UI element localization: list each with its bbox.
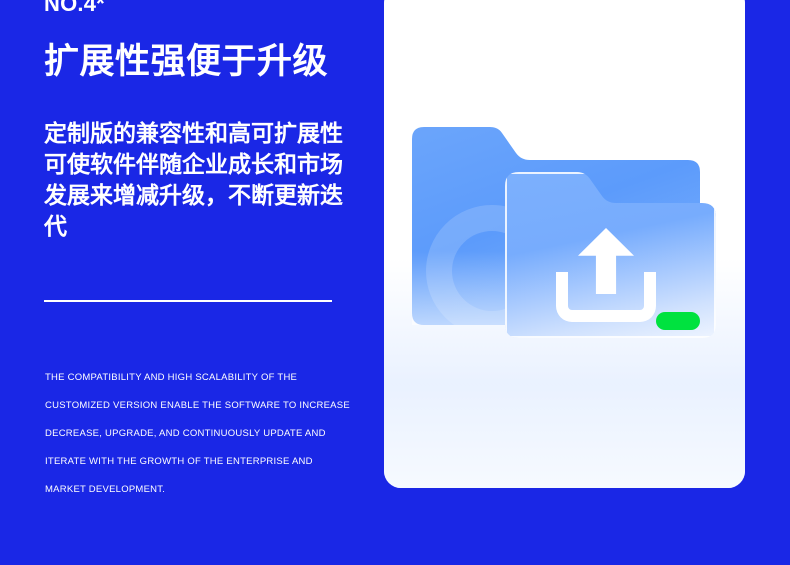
slide-canvas: NO.4* 扩展性强便于升级 定制版的兼容性和高可扩展性可使软件伴随企业成长和市… — [0, 0, 790, 565]
english-caption-line: MARKET DEVELOPMENT. — [45, 476, 345, 504]
english-caption-line: THE COMPATIBILITY AND HIGH SCALABILITY O… — [45, 364, 345, 392]
eyebrow-label: NO.4* — [44, 0, 354, 18]
english-caption-line: CUSTOMIZED VERSION ENABLE THE SOFTWARE T… — [45, 392, 345, 420]
status-pill-icon — [656, 312, 700, 330]
illustration-card — [384, 0, 745, 488]
english-caption-line: DECREASE, UPGRADE, AND CONTINUOUSLY UPDA… — [45, 420, 345, 448]
left-text-column: NO.4* 扩展性强便于升级 定制版的兼容性和高可扩展性可使软件伴随企业成长和市… — [44, 0, 354, 18]
divider — [44, 300, 332, 302]
illustration-artwork — [384, 0, 745, 488]
upload-icon — [556, 228, 656, 322]
english-caption-line: ITERATE WITH THE GROWTH OF THE ENTERPRIS… — [45, 448, 345, 476]
english-caption-block: THE COMPATIBILITY AND HIGH SCALABILITY O… — [45, 364, 345, 504]
subcopy-paragraph: 定制版的兼容性和高可扩展性可使软件伴随企业成长和市场发展来增减升级，不断更新迭代 — [44, 118, 344, 242]
upload-tray-icon — [556, 272, 656, 322]
page-title: 扩展性强便于升级 — [44, 42, 328, 82]
